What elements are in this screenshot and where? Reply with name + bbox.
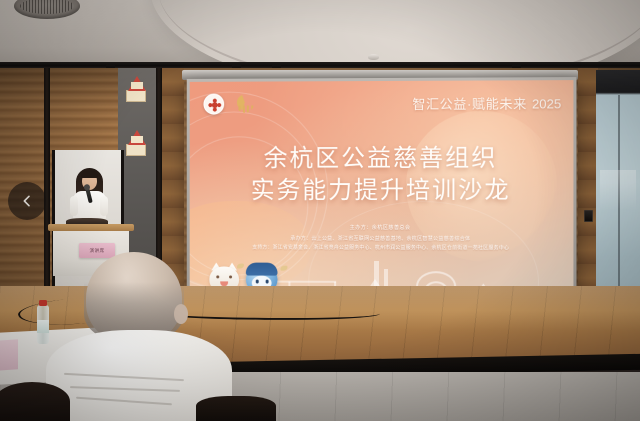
slide-tagline: 智汇公益·赋能未来2025	[412, 93, 561, 113]
speaker-fringe	[81, 171, 98, 178]
warning-sign-lower-icon	[128, 130, 146, 145]
slide-title: 余杭区公益慈善组织 实务能力提升培训沙龙	[190, 143, 574, 208]
warning-sign-upper-icon	[128, 76, 146, 91]
person-dark-hair-left	[0, 382, 70, 421]
slide-title-line2: 实务能力提升培训沙龙	[190, 175, 574, 207]
chevron-left-icon	[19, 193, 35, 209]
wall-switch[interactable]	[584, 210, 593, 222]
prev-image-button[interactable]	[8, 182, 46, 220]
slide-year: 2025	[532, 96, 561, 111]
slide-tagline-text: 智汇公益·赋能未来	[412, 96, 527, 111]
wall-notice-card	[126, 90, 146, 102]
man-ear	[174, 304, 188, 324]
charity-federation-seal-icon	[203, 94, 224, 115]
slide-title-line1: 余杭区公益慈善组织	[190, 143, 574, 176]
presentation-slide: 智汇公益·赋能未来2025 余杭区公益慈善组织 实务能力提升培训沙龙 主办方：余…	[190, 80, 574, 302]
speaker-arm-left	[70, 196, 78, 216]
photo-viewer: 智汇公益·赋能未来2025 余杭区公益慈善组织 实务能力提升培训沙龙 主办方：余…	[0, 0, 640, 421]
pink-document	[0, 339, 18, 371]
podium-top	[48, 224, 134, 231]
speaker-arm-right	[100, 196, 108, 216]
person-bottom-right	[196, 396, 276, 421]
glass-reflection	[600, 170, 636, 210]
wood-panel-column-right	[578, 68, 598, 323]
man-white-shirt	[46, 252, 232, 421]
projection-screen: 智汇公益·赋能未来2025 余杭区公益慈善组织 实务能力提升培训沙龙 主办方：余…	[187, 77, 577, 305]
smoke-detector-icon	[368, 54, 379, 60]
slide-logo-group	[203, 94, 255, 115]
wall-notice-card	[126, 144, 146, 156]
golden-sunburst-logo-icon	[234, 94, 256, 114]
